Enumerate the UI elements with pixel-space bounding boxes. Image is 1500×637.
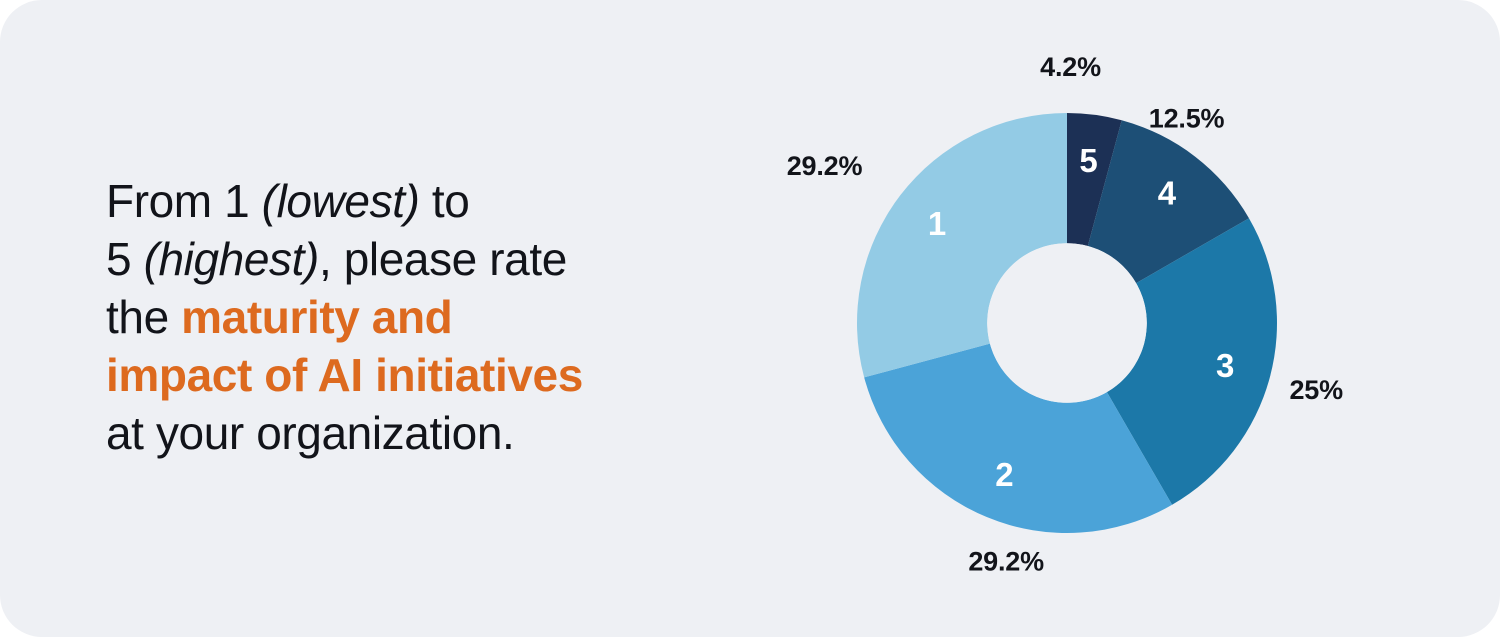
donut-slices xyxy=(857,113,1277,533)
infographic-card: From 1 (lowest) to5 (highest), please ra… xyxy=(0,0,1500,637)
slice-number-2: 2 xyxy=(995,456,1013,493)
question-line3-plain-a: the xyxy=(106,291,181,343)
donut-chart-svg: 54321 4.2%12.5%25%29.2%29.2% xyxy=(760,0,1500,637)
question-line1-italic: (lowest) xyxy=(262,175,420,227)
question-line2-plain-a: 5 xyxy=(106,233,144,285)
question-highlight-a: maturity and xyxy=(181,291,452,343)
slice-number-1: 1 xyxy=(928,205,946,242)
question-block: From 1 (lowest) to5 (highest), please ra… xyxy=(106,172,706,462)
slice-number-3: 3 xyxy=(1216,347,1234,384)
question-line1-plain-a: From 1 xyxy=(106,175,262,227)
question-line2-italic: (highest) xyxy=(144,233,319,285)
question-line1-plain-b: to xyxy=(420,175,470,227)
slice-number-5: 5 xyxy=(1079,142,1097,179)
percent-label-3: 25% xyxy=(1289,375,1343,405)
question-line5-plain: at your organization. xyxy=(106,407,514,459)
percent-label-2: 29.2% xyxy=(968,546,1044,576)
question-line2-plain-b: , please rate xyxy=(319,233,567,285)
percent-label-5: 4.2% xyxy=(1040,52,1101,82)
donut-chart: 54321 4.2%12.5%25%29.2%29.2% xyxy=(760,0,1500,637)
question-highlight-b: impact of AI initiatives xyxy=(106,349,583,401)
percent-label-4: 12.5% xyxy=(1149,104,1225,134)
percent-label-1: 29.2% xyxy=(787,151,863,181)
donut-hole xyxy=(987,243,1147,403)
slice-number-4: 4 xyxy=(1158,175,1177,212)
question-text: From 1 (lowest) to5 (highest), please ra… xyxy=(106,172,706,462)
